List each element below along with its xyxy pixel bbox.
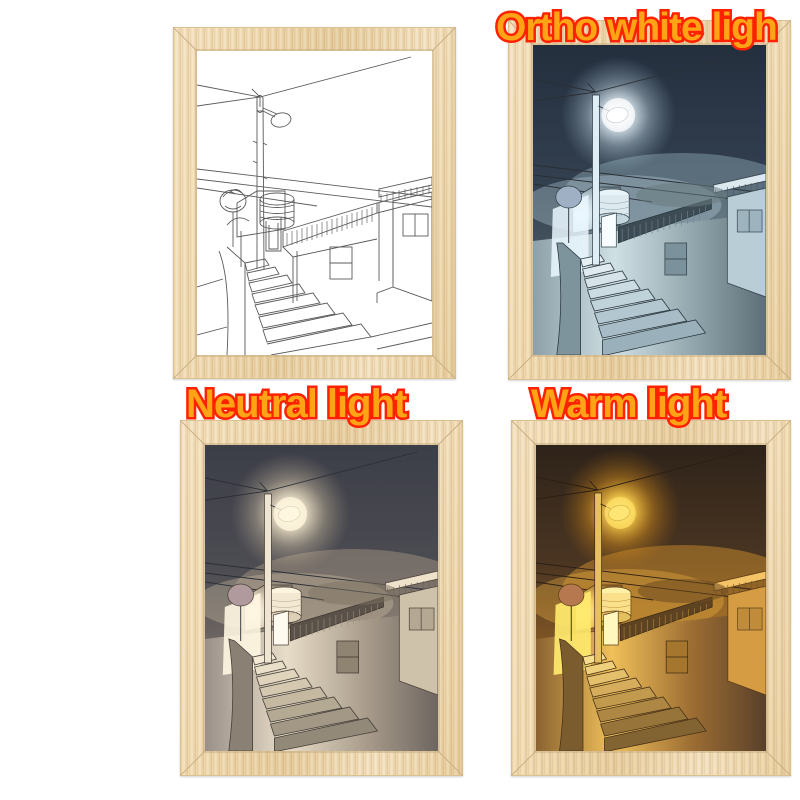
panel-warm[interactable]: Warm light <box>511 420 791 776</box>
caption-ortho-white: Ortho white ligh <box>496 8 777 47</box>
artwork-warm <box>536 445 766 751</box>
artwork-ortho-white <box>533 45 766 355</box>
panel-ortho-white[interactable]: Ortho white ligh <box>508 20 791 380</box>
artwork-neutral <box>205 445 438 751</box>
product-collage: Ortho white ligh <box>0 0 800 800</box>
caption-neutral: Neutral light <box>186 384 406 424</box>
panel-neutral[interactable]: Neutral light <box>180 420 463 776</box>
panel-unlit[interactable] <box>173 27 456 379</box>
caption-warm: Warm light <box>531 384 726 424</box>
artwork-unlit <box>197 51 432 355</box>
